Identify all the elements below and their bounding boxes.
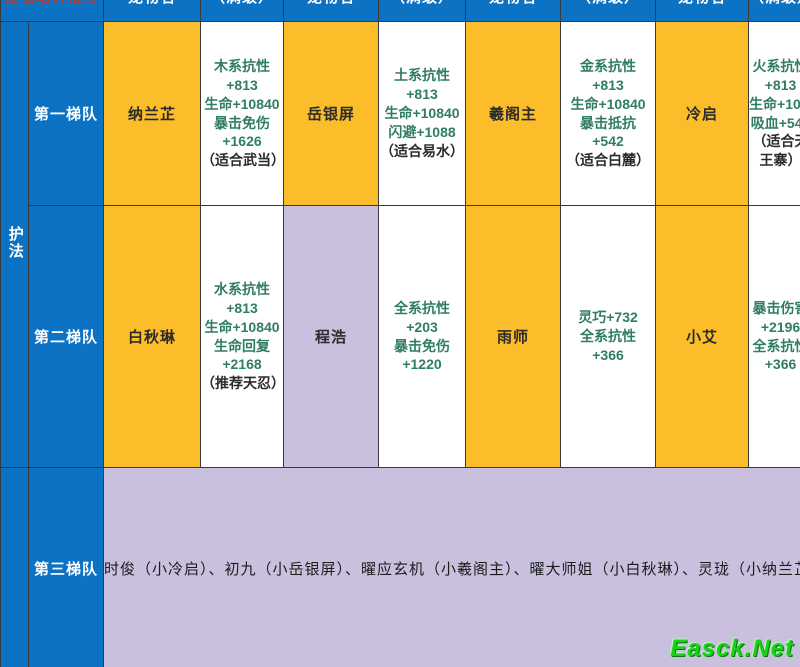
pet-stats-cell: 水系抗性 +813 生命+10840 生命回复 +2168 （推荐天忍） — [201, 206, 284, 468]
pet-note: （适合天王寨） — [749, 132, 800, 170]
pet-note: （适合白麓） — [561, 151, 655, 170]
side-category-spacer — [1, 468, 29, 667]
header-pet-name-1: 宠物名 — [104, 0, 201, 22]
pet-note: （适合易水） — [379, 142, 465, 161]
tier-label-2: 第二梯队 — [29, 206, 104, 468]
header-level-2: （满级） — [379, 0, 466, 22]
pet-stats-cell: 暴击伤害 +2196 全系抗性 +366 — [749, 206, 800, 468]
header-corner-cell: 宠物培养推荐 — [1, 0, 104, 22]
header-corner-label: 宠物培养推荐 — [1, 0, 103, 7]
tier-label-1: 第一梯队 — [29, 22, 104, 206]
pet-stats-cell: 全系抗性 +203 暴击免伤 +1220 — [379, 206, 466, 468]
pet-name-cell: 程浩 — [284, 206, 379, 468]
pet-note: （适合武当） — [201, 151, 283, 170]
pet-stats-cell: 火系抗性 +813 生命+10840 吸血+542 （适合天王寨） — [749, 22, 800, 206]
header-pet-name-4: 宠物名 — [656, 0, 749, 22]
header-pet-name-2: 宠物名 — [284, 0, 379, 22]
tier3-content-cell: 时俊（小冷启）、初九（小岳银屏）、曜应玄机（小羲阁主）、曜大师姐（小白秋琳）、灵… — [104, 468, 800, 667]
pet-name-cell: 羲阁主 — [466, 22, 561, 206]
table-row: 护法 第一梯队 纳兰芷 木系抗性 +813 生命+10840 暴击免伤 +162… — [1, 22, 800, 206]
header-level-3: （满级） — [561, 0, 656, 22]
side-category-label: 护法 — [1, 22, 29, 468]
tier-label-3: 第三梯队 — [29, 468, 104, 667]
pet-stats-cell: 土系抗性 +813 生命+10840 闪避+1088 （适合易水） — [379, 22, 466, 206]
pet-name-cell: 冷启 — [656, 22, 749, 206]
pet-stats-cell: 金系抗性 +813 生命+10840 暴击抵抗 +542 （适合白麓） — [561, 22, 656, 206]
pet-stats-cell: 木系抗性 +813 生命+10840 暴击免伤 +1626 （适合武当） — [201, 22, 284, 206]
pet-name-cell: 小艾 — [656, 206, 749, 468]
pet-name-cell: 纳兰芷 — [104, 22, 201, 206]
spreadsheet-screenshot: 宠物培养推荐 宠物名 （满级） 宠物名 （满级） 宠物名 （满级） 宠物名 — [0, 0, 800, 667]
pet-stats-cell: 灵巧+732 全系抗性 +366 — [561, 206, 656, 468]
pet-name-cell: 白秋琳 — [104, 206, 201, 468]
pet-recommendation-table: 宠物培养推荐 宠物名 （满级） 宠物名 （满级） 宠物名 （满级） 宠物名 — [0, 0, 800, 667]
table-header-row: 宠物培养推荐 宠物名 （满级） 宠物名 （满级） 宠物名 （满级） 宠物名 — [1, 0, 800, 22]
pet-name-cell: 岳银屏 — [284, 22, 379, 206]
pet-note: （推荐天忍） — [201, 374, 283, 393]
header-level-1: （满级） — [201, 0, 284, 22]
table-row: 第三梯队 时俊（小冷启）、初九（小岳银屏）、曜应玄机（小羲阁主）、曜大师姐（小白… — [1, 468, 800, 667]
table-row: 第二梯队 白秋琳 水系抗性 +813 生命+10840 生命回复 +2168 （… — [1, 206, 800, 468]
pet-name-cell: 雨师 — [466, 206, 561, 468]
header-pet-name-3: 宠物名 — [466, 0, 561, 22]
header-level-4: （满级） — [749, 0, 800, 22]
